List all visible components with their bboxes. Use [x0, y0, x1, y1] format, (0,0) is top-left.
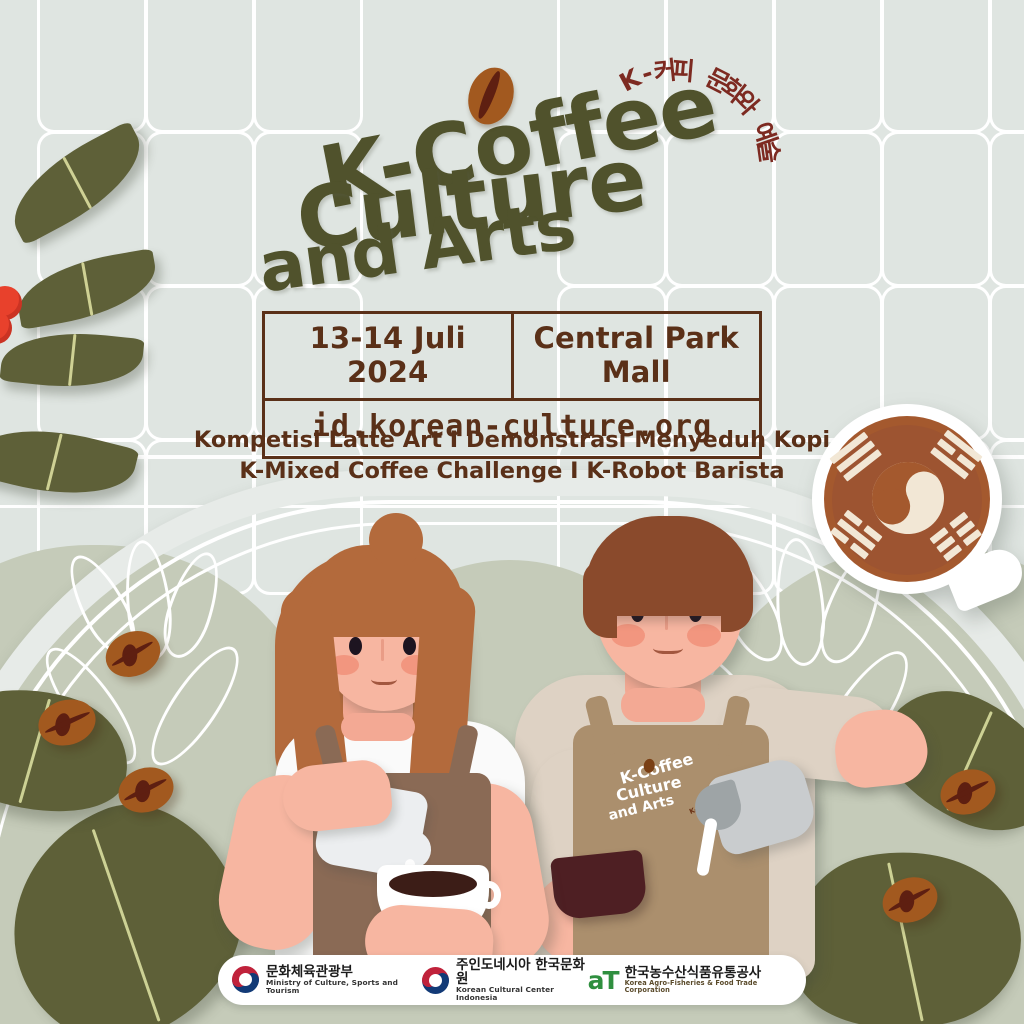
sponsor-english-name: Korea Agro-Fisheries & Food Trade Corpor… — [625, 980, 792, 994]
sponsor-korean-name: 한국농수산식품유통공사 — [625, 966, 792, 980]
poster-title-group: K-Coffee Culture and Arts K-커피 문화와 예술 — [0, 0, 1024, 320]
sponsor-text: 주인도네시아 한국문화원 Korean Cultural Center Indo… — [456, 958, 588, 1002]
female-mouth — [371, 671, 397, 685]
coffee-leaf — [0, 325, 145, 395]
female-eye-left — [349, 637, 362, 655]
sponsor-english-name: Ministry of Culture, Sports and Tourism — [266, 979, 422, 995]
male-collar-inner — [621, 688, 705, 722]
title-korean-arc: K-커피 문화와 예술 — [580, 80, 770, 250]
at-logo-icon: aT — [588, 966, 618, 995]
event-date: 13-14 Juli 2024 — [265, 314, 511, 398]
taegeuk-icon — [422, 967, 449, 994]
female-barista — [245, 525, 605, 985]
cup-coffee — [389, 871, 477, 897]
sponsor-logo-kcc-indonesia: 주인도네시아 한국문화원 Korean Cultural Center Indo… — [422, 958, 588, 1002]
sponsor-logo-ministry: 문화체육관광부 Ministry of Culture, Sports and … — [232, 965, 422, 995]
sponsor-english-name: Korean Cultural Center Indonesia — [456, 986, 588, 1002]
female-eye-right — [403, 637, 416, 655]
female-collar-inner — [341, 713, 415, 741]
female-hair-bun — [369, 513, 423, 567]
taegeuk-icon — [232, 966, 259, 993]
steel-milk-pitcher — [695, 760, 813, 852]
event-info-row: 13-14 Juli 2024 Central Park Mall — [265, 314, 759, 398]
sponsor-text: 한국농수산식품유통공사 Korea Agro-Fisheries & Food … — [625, 966, 792, 994]
sponsor-text: 문화체육관광부 Ministry of Culture, Sports and … — [266, 965, 422, 995]
leaf-vein — [68, 334, 76, 385]
title-korean-char: 술 — [751, 138, 790, 166]
male-hair-side-right — [721, 560, 753, 632]
female-nose — [381, 639, 384, 661]
male-cheek-right — [687, 624, 721, 647]
sponsor-logo-at-corp: aT 한국농수산식품유통공사 Korea Agro-Fisheries & Fo… — [588, 966, 792, 995]
event-venue: Central Park Mall — [511, 314, 760, 398]
title-korean-char: 피 — [670, 50, 696, 88]
cup-handle-small — [477, 881, 501, 909]
poster-root: K-Coffee Culture and Arts K-커피 문화와 예술 13… — [0, 0, 1024, 1024]
sponsor-korean-name: 주인도네시아 한국문화원 — [456, 958, 588, 987]
sponsor-korean-name: 문화체육관광부 — [266, 965, 422, 979]
sponsor-logo-bar: 문화체육관광부 Ministry of Culture, Sports and … — [218, 955, 806, 1005]
male-mouth — [653, 640, 683, 654]
